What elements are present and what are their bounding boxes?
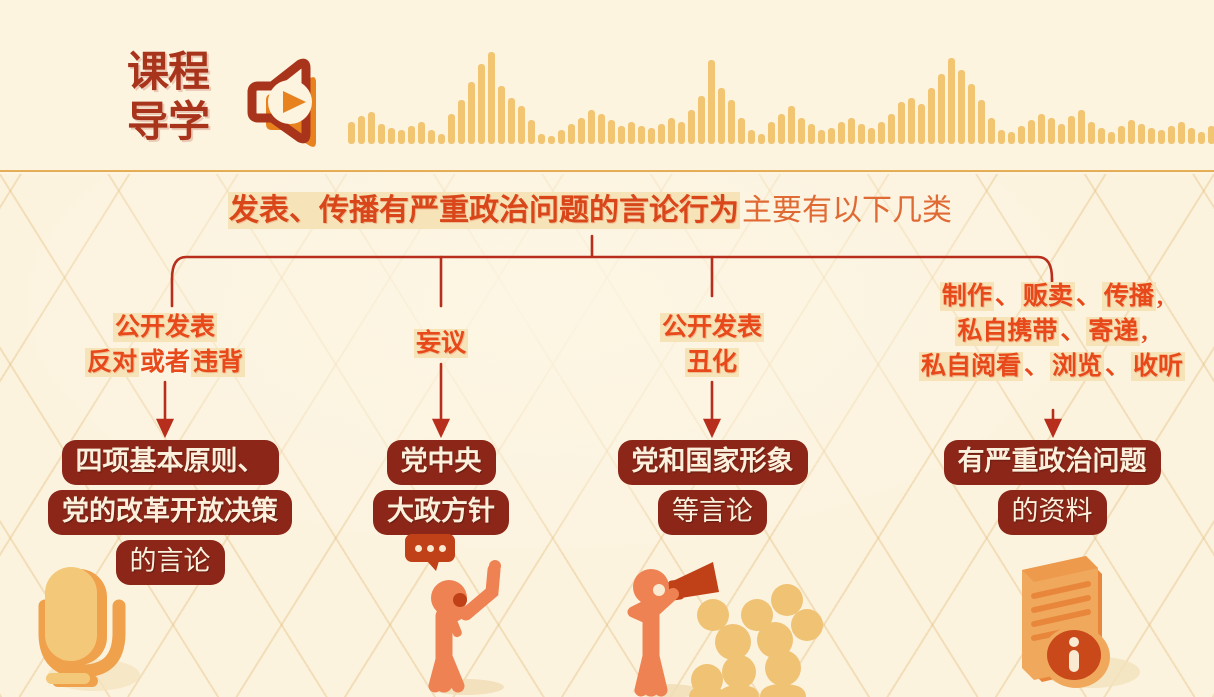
waveform-bar bbox=[1198, 132, 1205, 144]
waveform-bar bbox=[768, 122, 775, 144]
waveform-bar bbox=[728, 100, 735, 144]
waveform-bar bbox=[438, 134, 445, 144]
mid-label-line: 反对或者违背 bbox=[40, 345, 290, 380]
waveform-bar bbox=[778, 114, 785, 144]
waveform-bar bbox=[558, 130, 565, 144]
waveform-bar bbox=[1078, 110, 1085, 144]
waveform-bar bbox=[638, 126, 645, 144]
mid-label-highlight: 收听 bbox=[1131, 352, 1185, 381]
waveform-bar bbox=[838, 122, 845, 144]
mid-label-line: 私自阅看、浏览、收听 bbox=[890, 349, 1214, 384]
microphone-icon bbox=[22, 563, 147, 697]
mid-label-plain: 、 bbox=[1023, 352, 1050, 381]
waveform-bar bbox=[348, 122, 355, 144]
mid-label-plain: , bbox=[1156, 282, 1164, 311]
waveform-bar bbox=[698, 96, 705, 144]
waveform-bar bbox=[1208, 126, 1214, 144]
header-bar: 课程 导学 bbox=[0, 0, 1214, 172]
waveform-bar bbox=[538, 134, 545, 144]
waveform-bar bbox=[678, 122, 685, 144]
waveform-bar bbox=[988, 118, 995, 144]
waveform-bar bbox=[898, 102, 905, 144]
waveform-bar bbox=[908, 98, 915, 144]
waveform-bar bbox=[468, 82, 475, 144]
mid-label-highlight: 私自阅看 bbox=[919, 352, 1023, 381]
waveform-bar bbox=[818, 130, 825, 144]
waveform-bar bbox=[808, 124, 815, 144]
waveform-bar bbox=[648, 128, 655, 144]
mid-label-highlight: 制作 bbox=[940, 282, 994, 311]
terminal-pill: 四项基本原则、 bbox=[62, 440, 279, 485]
waveform-bar bbox=[628, 122, 635, 144]
person-with-megaphone-crowd-icon bbox=[615, 550, 845, 697]
mid-label-highlight: 传播 bbox=[1102, 282, 1156, 311]
waveform-bar bbox=[738, 118, 745, 144]
terminal-pill: 党中央 bbox=[387, 440, 496, 485]
mid-label-plain: , bbox=[1140, 317, 1148, 346]
waveform-bar bbox=[498, 86, 505, 144]
mid-label-line: 公开发表 bbox=[40, 310, 290, 345]
waveform-bar bbox=[1138, 124, 1145, 144]
waveform-bar bbox=[428, 130, 435, 144]
mid-label-highlight: 丑化 bbox=[685, 348, 739, 377]
waveform-bar bbox=[478, 64, 485, 144]
waveform-bar bbox=[1128, 120, 1135, 144]
branch-3-pills: 党和国家形象等言论 bbox=[600, 440, 825, 535]
title-highlight: 发表、传播有严重政治问题的言论行为 bbox=[228, 192, 740, 229]
mid-label-plain: 或者 bbox=[139, 348, 191, 377]
terminal-pill: 党的改革开放决策 bbox=[48, 490, 292, 535]
waveform-bar bbox=[508, 98, 515, 144]
mid-label-plain: 、 bbox=[1104, 352, 1131, 381]
waveform-bar bbox=[488, 52, 495, 144]
waveform-bar bbox=[1068, 116, 1075, 144]
waveform-bar bbox=[718, 88, 725, 144]
branch-2-mid-label: 妄议 bbox=[366, 326, 516, 361]
waveform-bar bbox=[388, 128, 395, 144]
document-info-icon bbox=[1002, 554, 1142, 697]
mid-label-highlight: 私自携带 bbox=[955, 317, 1059, 346]
mid-label-line: 制作、贩卖、传播, bbox=[890, 279, 1214, 314]
mid-label-highlight: 公开发表 bbox=[660, 313, 764, 342]
mid-label-highlight: 贩卖 bbox=[1021, 282, 1075, 311]
waveform-bar bbox=[528, 120, 535, 144]
speech-bubble-icon bbox=[405, 534, 455, 562]
waveform-bar bbox=[418, 122, 425, 144]
waveform-bar bbox=[868, 128, 875, 144]
terminal-pill: 的资料 bbox=[998, 490, 1107, 535]
mid-label-highlight: 寄递 bbox=[1086, 317, 1140, 346]
waveform-bar bbox=[548, 136, 555, 144]
audio-waveform bbox=[348, 24, 1148, 144]
terminal-pill: 大政方针 bbox=[373, 490, 509, 535]
waveform-bar bbox=[448, 114, 455, 144]
waveform-bar bbox=[1178, 122, 1185, 144]
infographic-page: 课程 导学 发表、传播有严重政治问题的言论行为主要有以下几类 bbox=[0, 0, 1214, 697]
branch-1-mid-label: 公开发表反对或者违背 bbox=[40, 310, 290, 380]
mid-label-plain: 、 bbox=[1059, 317, 1086, 346]
waveform-bar bbox=[1168, 126, 1175, 144]
course-guide-logo: 课程 导学 bbox=[112, 44, 224, 150]
waveform-bar bbox=[978, 100, 985, 144]
waveform-bar bbox=[748, 130, 755, 144]
waveform-bar bbox=[668, 118, 675, 144]
mid-label-plain: 、 bbox=[1075, 282, 1102, 311]
waveform-bar bbox=[788, 106, 795, 144]
waveform-bar bbox=[658, 124, 665, 144]
branch-2-pills: 党中央大政方针 bbox=[356, 440, 526, 535]
waveform-bar bbox=[458, 100, 465, 144]
waveform-bar bbox=[878, 122, 885, 144]
waveform-bar bbox=[928, 88, 935, 144]
waveform-bar bbox=[918, 104, 925, 144]
mid-label-highlight: 妄议 bbox=[414, 329, 468, 358]
waveform-bar bbox=[608, 120, 615, 144]
waveform-bar bbox=[1038, 114, 1045, 144]
mid-label-highlight: 反对 bbox=[85, 348, 139, 377]
waveform-bar bbox=[1098, 128, 1105, 144]
waveform-bar bbox=[578, 118, 585, 144]
waveform-bar bbox=[1088, 122, 1095, 144]
waveform-bar bbox=[358, 116, 365, 144]
speaker-play-icon[interactable] bbox=[238, 48, 334, 148]
waveform-bar bbox=[398, 130, 405, 144]
waveform-bar bbox=[948, 58, 955, 144]
waveform-bar bbox=[958, 70, 965, 144]
waveform-bar bbox=[1048, 118, 1055, 144]
waveform-bar bbox=[998, 130, 1005, 144]
waveform-bar bbox=[848, 118, 855, 144]
waveform-bar bbox=[1028, 120, 1035, 144]
waveform-bar bbox=[888, 114, 895, 144]
waveform-bar bbox=[688, 110, 695, 144]
terminal-pill: 等言论 bbox=[658, 490, 767, 535]
waveform-bar bbox=[1008, 132, 1015, 144]
waveform-bar bbox=[518, 106, 525, 144]
mid-label-line: 私自携带、寄递, bbox=[890, 314, 1214, 349]
branch-4-pills: 有严重政治问题的资料 bbox=[890, 440, 1214, 535]
branch-3-mid-label: 公开发表丑化 bbox=[612, 310, 812, 380]
waveform-bar bbox=[798, 118, 805, 144]
waveform-bar bbox=[618, 126, 625, 144]
waveform-bar bbox=[1018, 126, 1025, 144]
waveform-bar bbox=[968, 84, 975, 144]
waveform-bar bbox=[1058, 124, 1065, 144]
mid-label-highlight: 违背 bbox=[191, 348, 245, 377]
mid-label-line: 妄议 bbox=[366, 326, 516, 361]
branch-4-mid-label: 制作、贩卖、传播,私自携带、寄递,私自阅看、浏览、收听 bbox=[890, 279, 1214, 384]
terminal-pill: 党和国家形象 bbox=[618, 440, 808, 485]
logo-line-2: 导学 bbox=[127, 97, 209, 147]
mid-label-line: 丑化 bbox=[612, 345, 812, 380]
page-title: 发表、传播有严重政治问题的言论行为主要有以下几类 bbox=[228, 191, 952, 231]
waveform-bar bbox=[568, 124, 575, 144]
waveform-bar bbox=[758, 134, 765, 144]
header-divider bbox=[0, 170, 1214, 172]
waveform-bar bbox=[408, 126, 415, 144]
waveform-bar bbox=[858, 124, 865, 144]
waveform-bar bbox=[368, 112, 375, 144]
waveform-bar bbox=[708, 60, 715, 144]
mid-label-plain: 、 bbox=[994, 282, 1021, 311]
terminal-pill: 有严重政治问题 bbox=[944, 440, 1161, 485]
mid-label-highlight: 浏览 bbox=[1050, 352, 1104, 381]
waveform-bar bbox=[938, 74, 945, 144]
waveform-bar bbox=[1118, 126, 1125, 144]
mid-label-highlight: 公开发表 bbox=[113, 313, 217, 342]
waveform-bar bbox=[1188, 128, 1195, 144]
waveform-bar bbox=[588, 110, 595, 144]
mid-label-line: 公开发表 bbox=[612, 310, 812, 345]
person-with-microphone-icon bbox=[400, 556, 545, 697]
waveform-bar bbox=[1148, 128, 1155, 144]
logo-line-1: 课程 bbox=[127, 47, 209, 97]
waveform-bar bbox=[1158, 130, 1165, 144]
waveform-bar bbox=[828, 128, 835, 144]
waveform-bar bbox=[1108, 132, 1115, 144]
waveform-bar bbox=[598, 114, 605, 144]
waveform-bar bbox=[378, 124, 385, 144]
title-plain: 主要有以下几类 bbox=[740, 194, 952, 227]
